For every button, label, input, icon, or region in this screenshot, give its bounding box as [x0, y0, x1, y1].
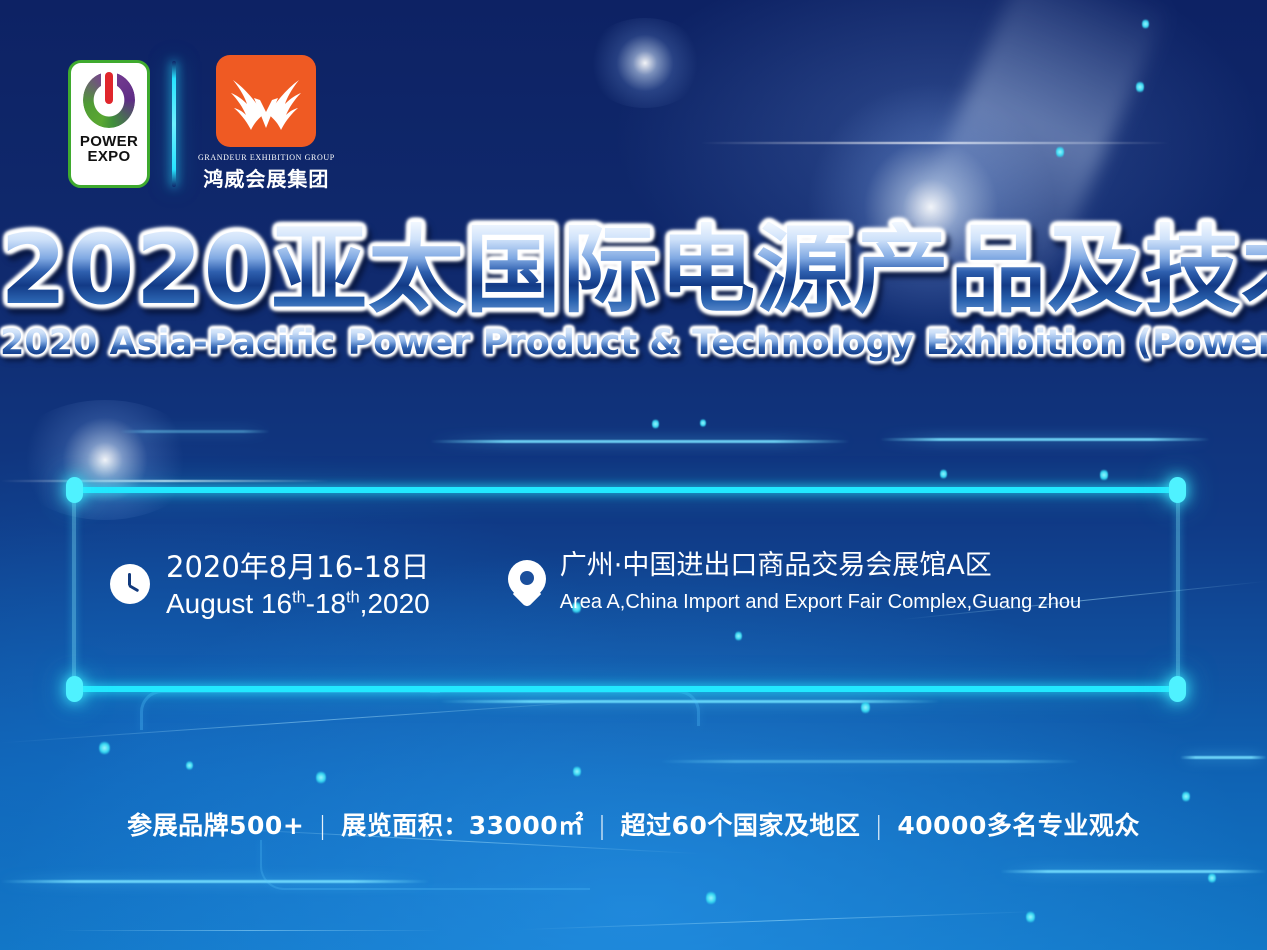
logo-divider [172, 61, 176, 187]
circuit-trace [120, 430, 270, 433]
event-venue-text: 广州·中国进出口商品交易会展馆A区 Area A,China Import an… [560, 548, 1081, 616]
power-bar-icon [105, 72, 113, 104]
event-stats: 参展品牌500+|展览面积：33000㎡|超过60个国家及地区|40000多名专… [0, 806, 1267, 842]
event-date-text: 2020年8月16-18日 August 16th-18th,2020 [166, 548, 430, 623]
glow-dot [1208, 872, 1216, 884]
stat-separator: | [860, 811, 897, 840]
date-en-sup2: th [346, 589, 360, 607]
frame-bottom-bar [72, 686, 1180, 692]
location-pin-icon [508, 560, 546, 612]
wing-w-icon [227, 68, 305, 134]
circuit-trace-thin [1, 698, 640, 744]
glow-dot [1182, 790, 1190, 803]
event-venue-english: Area A,China Import and Export Fair Comp… [560, 589, 1081, 616]
glow-dot [99, 740, 110, 756]
frame-corner-top-right [1169, 477, 1186, 503]
glow-dot [861, 700, 870, 715]
frame-right-bar [1176, 487, 1180, 692]
glow-dot [1026, 910, 1035, 924]
circuit-trace [0, 880, 430, 883]
event-date-english: August 16th-18th,2020 [166, 586, 430, 623]
frame-corner-top-left [66, 477, 83, 503]
date-en-mid: -18 [306, 588, 346, 619]
glow-dot [700, 418, 706, 428]
grandeur-chinese-name: 鸿威会展集团 [203, 163, 329, 192]
circuit-trace-thin [60, 930, 440, 931]
event-date-chinese: 2020年8月16-18日 [166, 548, 430, 586]
glow-dot [316, 770, 326, 785]
glow-dot [1056, 145, 1064, 159]
frame-corner-bottom-right [1169, 676, 1186, 702]
circuit-trace [880, 438, 1210, 441]
stat-item: 超过60个国家及地区 [621, 811, 861, 840]
circuit-path [140, 690, 440, 730]
glow-dot [652, 418, 659, 430]
stat-item: 展览面积：33000㎡ [341, 811, 583, 840]
circuit-trace [660, 760, 1080, 763]
circuit-trace [1000, 870, 1267, 873]
page-title-chinese: 2020亚太国际电源产品及技术展 [0, 222, 1267, 318]
glow-dot [1142, 18, 1149, 30]
logo-group: POWER EXPO GRANDEUR EXHIBITION GROUP 鸿威会… [68, 55, 335, 192]
title-block: 2020亚太国际电源产品及技术展 2020 Asia-Pacific Power… [0, 222, 1267, 363]
circuit-trace [440, 700, 940, 703]
event-info: 2020年8月16-18日 August 16th-18th,2020 广州·中… [110, 548, 1081, 623]
glow-dot [1100, 468, 1108, 482]
clock-icon [110, 564, 150, 604]
circuit-trace [430, 440, 850, 443]
circuit-path [430, 690, 700, 726]
stat-item: 40000多名专业观众 [897, 811, 1139, 840]
pin-hole [520, 571, 534, 585]
circuit-trace [1180, 756, 1267, 759]
power-expo-line1: POWER [80, 134, 138, 150]
stat-separator: | [584, 811, 621, 840]
circuit-path [260, 840, 590, 890]
frame-top-bar [72, 487, 1180, 493]
glow-dot [1136, 80, 1144, 94]
stat-separator: | [304, 811, 341, 840]
glow-dot [573, 765, 581, 778]
date-en-sup1: th [292, 589, 306, 607]
event-venue-block: 广州·中国进出口商品交易会展馆A区 Area A,China Import an… [508, 548, 1081, 616]
power-expo-logo[interactable]: POWER EXPO [68, 60, 150, 188]
grandeur-logo[interactable]: GRANDEUR EXHIBITION GROUP 鸿威会展集团 [198, 55, 335, 192]
circuit-trace-thin [520, 911, 1040, 930]
stat-item: 参展品牌500+ [127, 811, 304, 840]
power-expo-line2: EXPO [88, 149, 131, 165]
frame-corner-bottom-left [66, 676, 83, 702]
glow-dot [940, 468, 947, 480]
page-title-english: 2020 Asia-Pacific Power Product & Techno… [0, 324, 1267, 363]
glow-dot [186, 760, 193, 771]
lens-flare-streak-main [700, 142, 1170, 144]
event-venue-chinese: 广州·中国进出口商品交易会展馆A区 [560, 548, 1081, 583]
power-symbol-icon [83, 72, 135, 128]
date-en-prefix: August 16 [166, 588, 292, 619]
date-en-suffix: ,2020 [360, 588, 430, 619]
frame-left-bar [72, 487, 76, 692]
event-banner: POWER EXPO GRANDEUR EXHIBITION GROUP 鸿威会… [0, 0, 1267, 950]
lens-flare-streak-secondary [0, 480, 330, 482]
glow-dot [706, 890, 716, 906]
grandeur-english-name: GRANDEUR EXHIBITION GROUP [198, 153, 335, 162]
event-date-block: 2020年8月16-18日 August 16th-18th,2020 [110, 548, 430, 623]
grandeur-mark-box [216, 55, 316, 147]
lens-flare-small [585, 18, 705, 108]
